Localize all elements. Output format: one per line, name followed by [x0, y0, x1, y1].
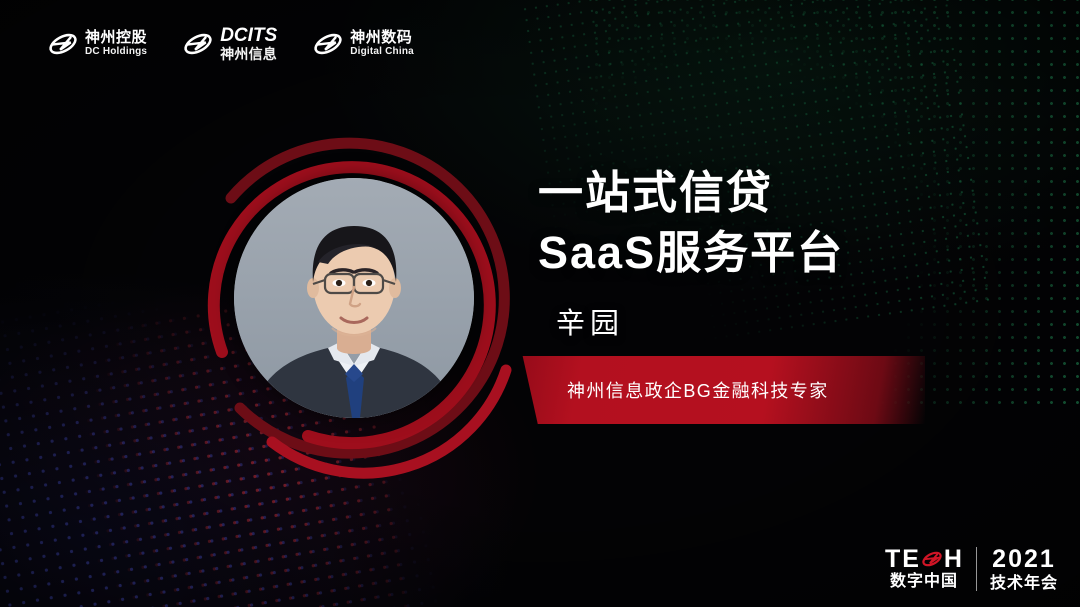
logo-dc-holdings-en: DC Holdings — [85, 47, 147, 58]
swirl-icon — [313, 29, 343, 59]
portrait-illustration — [234, 178, 474, 418]
event-badge-cn: 数字中国 — [890, 573, 958, 591]
logo-digital-china: 神州数码 Digital China — [313, 29, 414, 59]
tech-letter-h: H — [944, 545, 963, 573]
logo-dc-holdings-cn: 神州控股 — [85, 30, 147, 46]
logo-digital-china-cn: 神州数码 — [350, 30, 414, 46]
badge-divider — [976, 547, 977, 591]
speaker-role-banner: 神州信息政企BG金融科技专家 — [505, 356, 925, 424]
event-year-cn: 技术年会 — [990, 575, 1058, 593]
event-badge-year-group: 2021 技术年会 — [990, 545, 1058, 593]
logo-dcits-cn: 神州信息 — [220, 47, 277, 62]
logo-digital-china-en: Digital China — [350, 47, 414, 58]
presentation-slide: 神州控股 DC Holdings DCITS 神州信息 — [0, 0, 1080, 607]
logo-dcits-text: DCITS 神州信息 — [220, 26, 277, 62]
title-line-2: SaaS服务平台 — [538, 223, 998, 283]
logo-dc-holdings: 神州控股 DC Holdings — [48, 29, 147, 59]
slide-title: 一站式信贷 SaaS服务平台 — [538, 163, 998, 284]
speaker-portrait — [234, 178, 474, 418]
logo-bar: 神州控股 DC Holdings DCITS 神州信息 — [48, 26, 414, 62]
title-line-1: 一站式信贷 — [538, 163, 998, 223]
event-year: 2021 — [992, 545, 1056, 573]
swirl-icon — [183, 29, 213, 59]
portrait-zone — [176, 120, 536, 490]
event-badge: T E H 数字中国 2021 技术年会 — [885, 545, 1058, 593]
tech-letter-e: E — [902, 545, 920, 573]
logo-dcits-en: DCITS — [220, 26, 277, 47]
swirl-icon — [48, 29, 78, 59]
swirl-icon — [921, 548, 943, 570]
logo-dcits: DCITS 神州信息 — [183, 26, 277, 62]
speaker-role-text: 神州信息政企BG金融科技专家 — [567, 356, 829, 424]
speaker-name: 辛园 — [556, 300, 624, 342]
logo-dc-holdings-text: 神州控股 DC Holdings — [85, 30, 147, 57]
event-badge-tech: T E H 数字中国 — [885, 547, 963, 591]
tech-letter-t: T — [885, 545, 901, 573]
logo-digital-china-text: 神州数码 Digital China — [350, 30, 414, 57]
tech-wordmark: T E H — [885, 547, 963, 571]
